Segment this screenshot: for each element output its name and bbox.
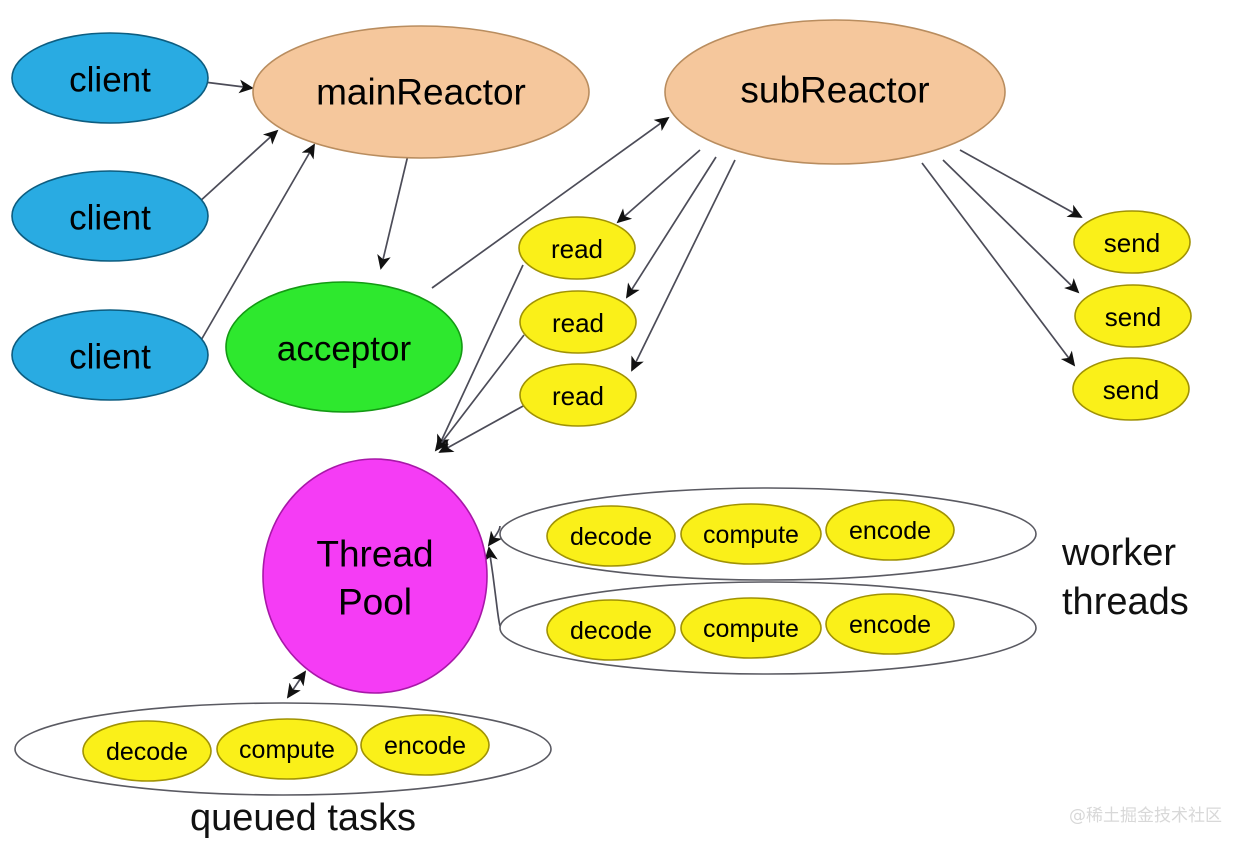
worker-group-1: decode compute encode (547, 500, 954, 566)
edge-mainreactor-to-acceptor (381, 155, 408, 268)
node-read-1[interactable]: read (519, 217, 635, 279)
send-1-label: send (1104, 228, 1160, 258)
worker2-encode-label: encode (849, 611, 931, 639)
node-send-3[interactable]: send (1073, 358, 1189, 420)
edge-threadpool-queued-tasks (288, 672, 305, 697)
node-mainreactor[interactable]: mainReactor (253, 26, 589, 158)
edge-threadpool-to-worker1 (489, 526, 500, 545)
node-send-2[interactable]: send (1075, 285, 1191, 347)
edge-subreactor-to-send1 (960, 150, 1081, 217)
thread-pool-label-line1: Thread (316, 534, 433, 575)
node-client-1[interactable]: client (12, 33, 208, 123)
send-2-label: send (1105, 302, 1161, 332)
node-acceptor[interactable]: acceptor (226, 282, 462, 412)
queued-tasks-caption: queued tasks (190, 797, 416, 839)
node-read-3[interactable]: read (520, 364, 636, 426)
worker-threads-caption-line1: worker (1061, 532, 1176, 574)
acceptor-label: acceptor (277, 330, 412, 369)
edge-client2-to-mainreactor (198, 131, 277, 203)
edge-subreactor-to-send3 (922, 163, 1074, 365)
worker2-decode-label: decode (570, 617, 652, 645)
client-1-label: client (69, 61, 151, 100)
client-2-label: client (69, 199, 151, 238)
worker1-decode-label: decode (570, 523, 652, 551)
subreactor-label: subReactor (740, 70, 929, 111)
node-client-2[interactable]: client (12, 171, 208, 261)
send-3-label: send (1103, 375, 1159, 405)
worker-threads-caption-line2: threads (1062, 581, 1189, 623)
read-1-label: read (551, 234, 603, 264)
node-send-1[interactable]: send (1074, 211, 1190, 273)
client-3-label: client (69, 338, 151, 377)
queued-compute-label: compute (239, 736, 335, 764)
node-read-2[interactable]: read (520, 291, 636, 353)
read-2-label: read (552, 308, 604, 338)
watermark-label: @稀土掘金技术社区 (1069, 806, 1222, 826)
worker1-encode-label: encode (849, 517, 931, 545)
read-3-label: read (552, 381, 604, 411)
queued-encode-label: encode (384, 732, 466, 760)
mainreactor-label: mainReactor (316, 72, 526, 113)
node-thread-pool[interactable]: Thread Pool (263, 459, 487, 693)
node-subreactor[interactable]: subReactor (665, 20, 1005, 164)
edge-threadpool-to-worker2 (489, 548, 500, 626)
thread-pool-ellipse[interactable] (263, 459, 487, 693)
queued-decode-label: decode (106, 738, 188, 766)
worker1-compute-label: compute (703, 521, 799, 549)
reactor-diagram: client client client mainReactor subReac… (0, 0, 1240, 847)
diagram-canvas: client client client mainReactor subReac… (0, 0, 1240, 847)
node-client-3[interactable]: client (12, 310, 208, 400)
edge-subreactor-to-read1 (618, 150, 700, 222)
edge-subreactor-to-send2 (943, 160, 1078, 292)
queued-tasks-group: decode compute encode (83, 715, 489, 781)
worker-group-2: decode compute encode (547, 594, 954, 660)
thread-pool-label-line2: Pool (338, 582, 412, 623)
worker2-compute-label: compute (703, 615, 799, 643)
